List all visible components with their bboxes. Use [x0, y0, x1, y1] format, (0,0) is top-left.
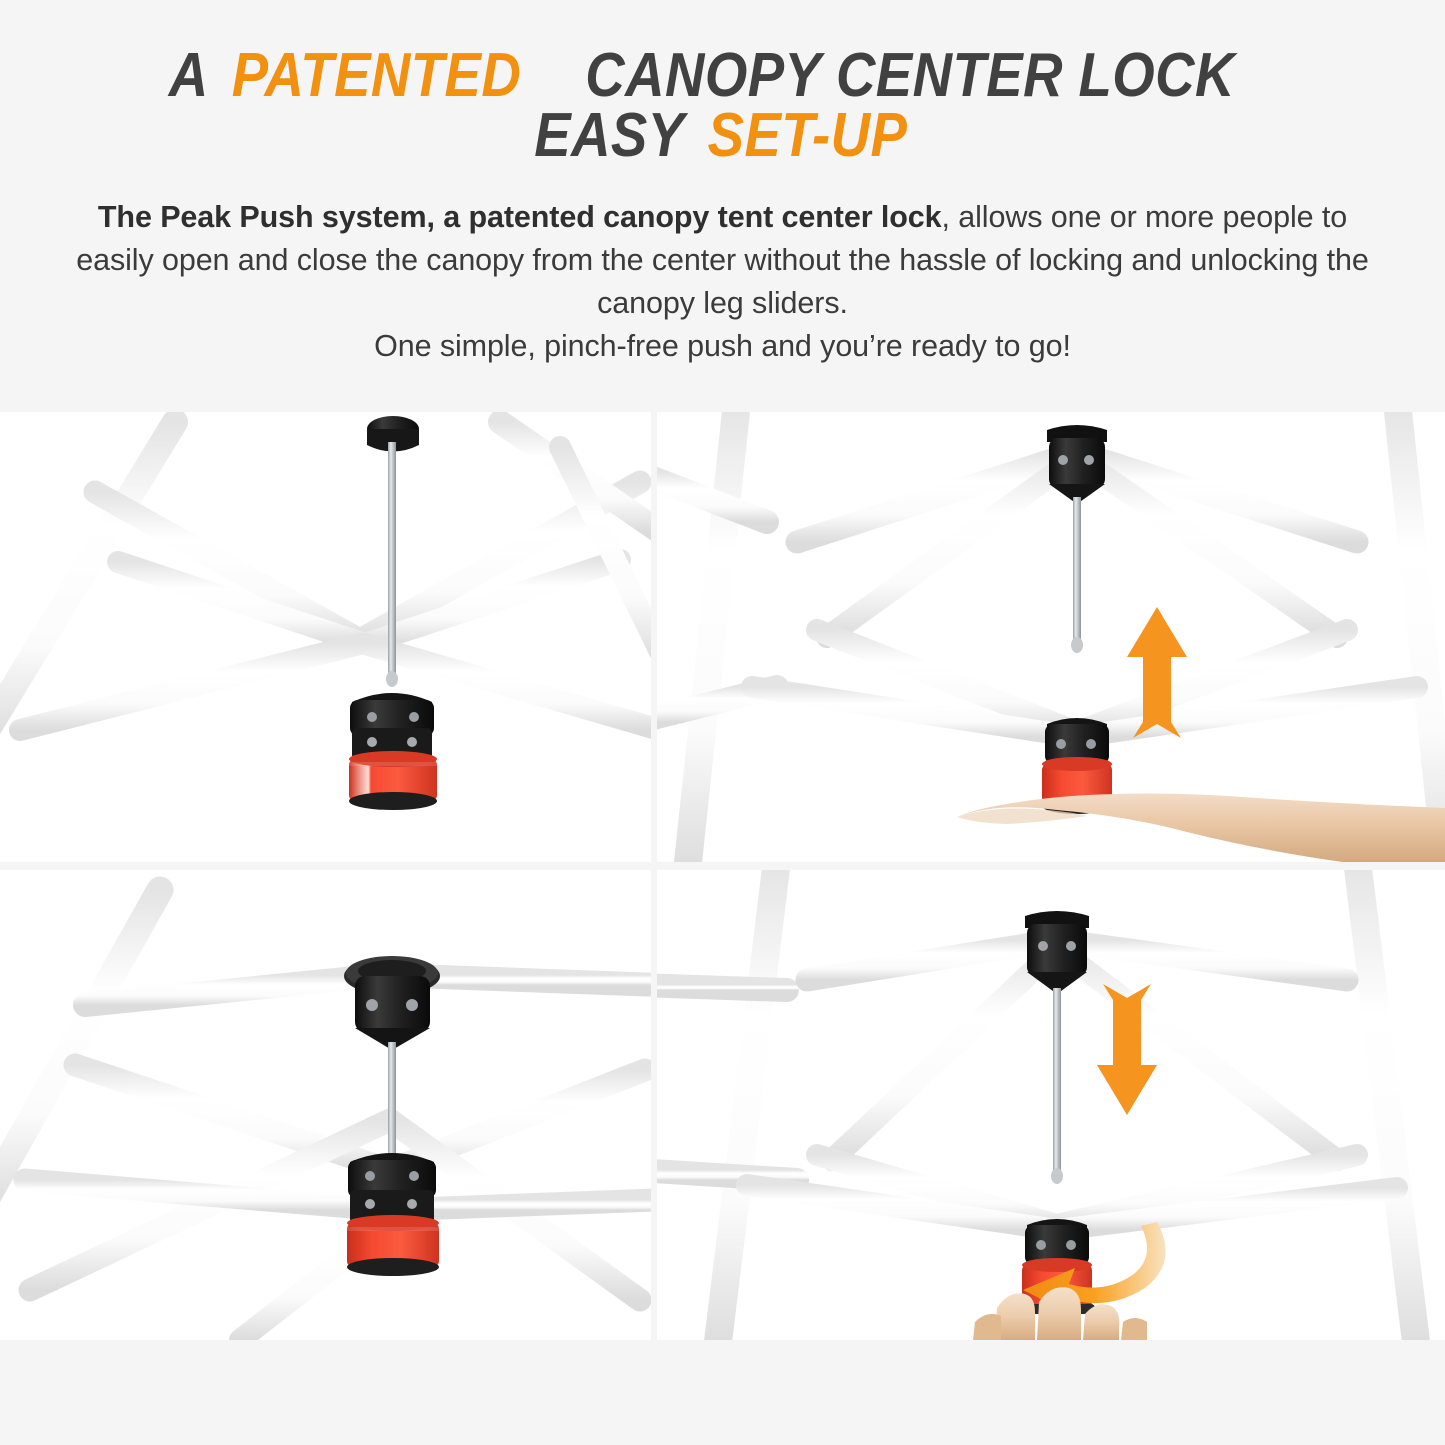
title-word-setup: SET-UP — [708, 106, 908, 166]
title-word-canopy-center-lock: CANOPY CENTER LOCK — [585, 46, 1235, 106]
page-title: A PATENTED CANOPY CENTER LOCK EASY SET-U… — [0, 46, 1445, 166]
title-word-easy: EASY — [534, 106, 684, 166]
description-bold-lead: The Peak Push system, a patented canopy … — [98, 200, 942, 234]
panel-push-up — [657, 412, 1445, 862]
metal-push-rod — [388, 442, 396, 677]
title-line-1: A PATENTED CANOPY CENTER LOCK — [0, 46, 1445, 106]
description-text: The Peak Push system, a patented canopy … — [72, 196, 1373, 369]
description-paragraph-2: One simple, pinch-free push and you’re r… — [72, 325, 1373, 368]
black-lower-hub — [348, 1153, 436, 1225]
black-lower-hub — [350, 693, 434, 761]
title-word-patented: PATENTED — [231, 46, 520, 106]
red-center-lock — [347, 1215, 439, 1276]
panel-grid — [0, 410, 1445, 1340]
panel-locked — [0, 870, 651, 1340]
red-center-lock — [349, 751, 437, 810]
panel-frame-extended — [0, 412, 651, 862]
infographic-page: A PATENTED CANOPY CENTER LOCK EASY SET-U… — [0, 0, 1445, 1445]
title-line-2: EASY SET-UP — [0, 106, 1445, 166]
panel-column-divider — [651, 410, 657, 1340]
metal-push-rod — [1053, 988, 1061, 1173]
metal-push-rod — [388, 1042, 396, 1157]
panel-pull-down-twist — [657, 870, 1445, 1340]
metal-push-rod — [1073, 497, 1081, 642]
title-word-a: A — [169, 46, 209, 106]
panel-row-divider — [0, 862, 1445, 870]
